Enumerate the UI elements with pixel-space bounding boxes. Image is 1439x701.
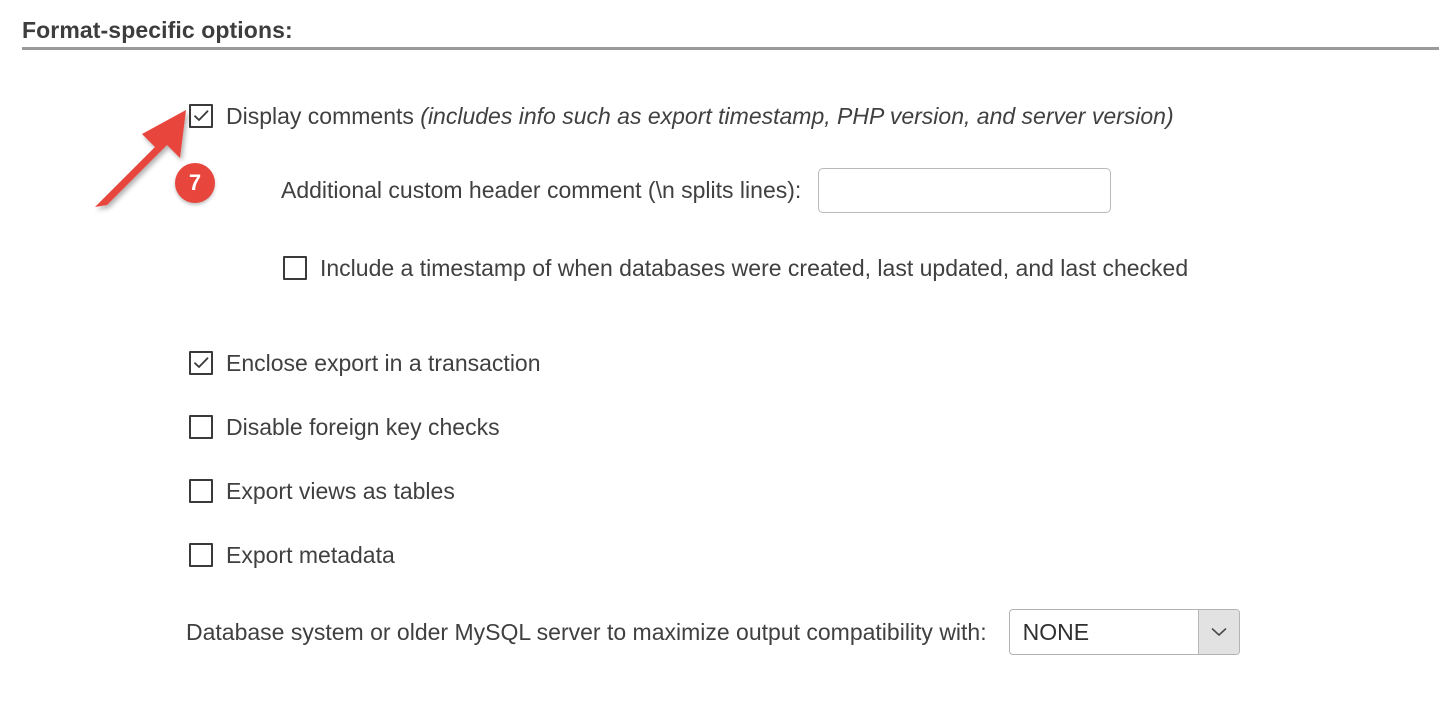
checkbox-export-metadata[interactable] bbox=[189, 543, 213, 567]
label-display-comments-main: Display comments bbox=[226, 103, 420, 129]
annotation-badge-7: 7 bbox=[175, 163, 215, 203]
compatibility-select[interactable]: NONE bbox=[1009, 609, 1240, 655]
checkbox-export-views[interactable] bbox=[189, 479, 213, 503]
label-custom-header-comment: Additional custom header comment (\n spl… bbox=[281, 179, 801, 202]
option-row-enclose-transaction[interactable]: Enclose export in a transaction bbox=[189, 351, 541, 375]
option-row-compatibility: Database system or older MySQL server to… bbox=[186, 609, 1240, 655]
heading-divider bbox=[22, 47, 1439, 50]
checkbox-enclose-transaction[interactable] bbox=[189, 351, 213, 375]
option-row-include-timestamp[interactable]: Include a timestamp of when databases we… bbox=[283, 256, 1188, 280]
option-row-custom-header: Additional custom header comment (\n spl… bbox=[281, 168, 1111, 213]
checkbox-include-timestamp[interactable] bbox=[283, 256, 307, 280]
arrow-up-right-icon bbox=[95, 110, 186, 207]
label-enclose-transaction: Enclose export in a transaction bbox=[226, 352, 541, 375]
check-icon bbox=[192, 354, 210, 372]
check-icon bbox=[192, 107, 210, 125]
label-display-comments: Display comments (includes info such as … bbox=[226, 105, 1174, 128]
option-row-export-metadata[interactable]: Export metadata bbox=[189, 543, 395, 567]
label-display-comments-note: (includes info such as export timestamp,… bbox=[420, 103, 1173, 129]
option-row-disable-fk-checks[interactable]: Disable foreign key checks bbox=[189, 415, 500, 439]
option-row-display-comments[interactable]: Display comments (includes info such as … bbox=[189, 104, 1174, 128]
option-row-export-views[interactable]: Export views as tables bbox=[189, 479, 455, 503]
chevron-down-icon[interactable] bbox=[1198, 610, 1239, 654]
compatibility-select-value: NONE bbox=[1010, 621, 1198, 644]
label-export-views: Export views as tables bbox=[226, 480, 455, 503]
checkbox-display-comments[interactable] bbox=[189, 104, 213, 128]
checkbox-disable-fk-checks[interactable] bbox=[189, 415, 213, 439]
label-include-timestamp: Include a timestamp of when databases we… bbox=[320, 257, 1188, 280]
page-title: Format-specific options: bbox=[22, 17, 293, 44]
label-export-metadata: Export metadata bbox=[226, 544, 395, 567]
label-compatibility: Database system or older MySQL server to… bbox=[186, 621, 987, 644]
label-disable-fk-checks: Disable foreign key checks bbox=[226, 416, 500, 439]
custom-header-comment-input[interactable] bbox=[818, 168, 1111, 213]
